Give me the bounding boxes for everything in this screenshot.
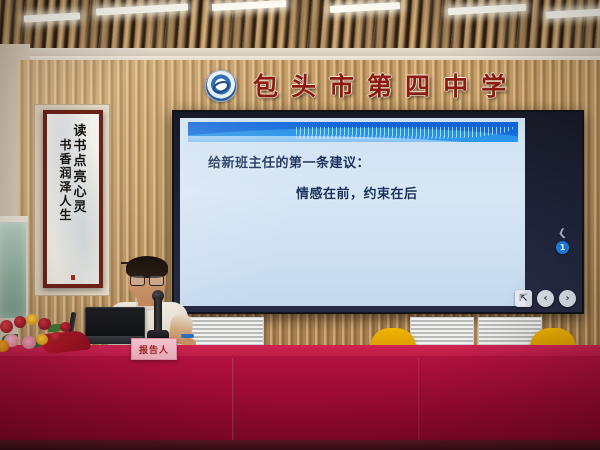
floor <box>0 440 600 450</box>
flower-red <box>38 318 51 330</box>
eyeglasses-icon <box>130 275 164 284</box>
name-placard-text: 报告人 <box>139 343 169 356</box>
sign-char: 市 <box>329 74 354 99</box>
microphone-body <box>154 296 162 334</box>
flower-bouquet <box>0 312 92 354</box>
red-table-cloth <box>0 356 600 450</box>
scroll-char: 灵 <box>74 200 87 215</box>
scroll-char: 香 <box>59 152 71 166</box>
mouse-cursor-icon: ❮ <box>557 227 567 239</box>
slide-heading: 给新班主任的第一条建议： <box>208 152 525 171</box>
green-wall-panel <box>0 222 28 318</box>
projected-slide: 给新班主任的第一条建议： 情感在前，约束在后 <box>180 118 525 306</box>
flower-orange <box>0 340 9 352</box>
school-name-characters: 包 头 市 第 四 中 学 <box>253 74 506 99</box>
scroll-char: 生 <box>59 208 71 222</box>
eyeglasses-bridge <box>121 262 129 264</box>
flower-red <box>0 320 13 333</box>
flower-red <box>50 332 62 343</box>
sign-char: 中 <box>443 74 468 99</box>
share-icon[interactable]: ⇱ <box>515 290 532 307</box>
screen-glare <box>180 118 525 306</box>
projection-screen[interactable]: 给新班主任的第一条建议： 情感在前，约束在后 ❮ 1 ⇱ ‹ › <box>172 110 584 314</box>
previous-slide-icon[interactable]: ‹ <box>537 290 554 307</box>
scroll-char: 润 <box>59 166 71 180</box>
wall-vent-left <box>186 317 264 345</box>
flower-red <box>60 322 71 332</box>
tablecloth-fold <box>232 358 235 448</box>
sign-char: 包 <box>253 74 278 99</box>
scroll-char: 泽 <box>59 180 71 194</box>
scroll-seal-stamp <box>71 275 75 280</box>
scroll-char: 人 <box>59 194 71 208</box>
flower-yellow <box>26 314 38 325</box>
bouquet-wrapping <box>41 330 91 355</box>
scroll-column-right: 读 书 点 亮 心 灵 <box>74 124 87 284</box>
slide-text-body: 给新班主任的第一条建议： 情感在前，约束在后 <box>180 152 525 202</box>
school-emblem-icon <box>205 70 237 102</box>
sign-char: 头 <box>291 74 316 99</box>
scroll-column-left: 书 香 润 泽 人 生 <box>59 138 71 284</box>
scroll-paper: 读 书 点 亮 心 灵 书 香 润 泽 人 生 <box>47 114 99 284</box>
wall-vent-mid <box>410 317 474 345</box>
scroll-char: 书 <box>59 138 71 152</box>
conference-room-photo: 读 书 点 亮 心 灵 书 香 润 泽 人 生 包 头 市 第 <box>0 0 600 450</box>
next-slide-icon[interactable]: › <box>559 290 576 307</box>
flower-pink <box>22 336 36 349</box>
scroll-char: 书 <box>74 139 87 154</box>
scroll-char: 亮 <box>74 170 87 185</box>
scroll-char: 点 <box>74 154 87 169</box>
scroll-char: 心 <box>74 185 87 200</box>
tablecloth-fold <box>418 358 421 448</box>
slide-banner <box>188 122 518 142</box>
flower-yellow <box>36 334 48 345</box>
flower-red <box>14 316 26 328</box>
slide-subheading: 情感在前，约束在后 <box>296 183 525 202</box>
sign-char: 四 <box>405 74 430 99</box>
calligraphy-scroll: 读 书 点 亮 心 灵 书 香 润 泽 人 生 <box>43 110 103 288</box>
notification-badge[interactable]: 1 <box>556 241 569 254</box>
school-name-sign: 包 头 市 第 四 中 学 <box>205 68 535 104</box>
sign-char: 学 <box>481 74 506 99</box>
scroll-char: 读 <box>74 124 87 139</box>
sign-char: 第 <box>367 74 392 99</box>
slide-controls: ⇱ ‹ › <box>515 290 576 307</box>
name-placard: 报告人 <box>131 338 177 360</box>
